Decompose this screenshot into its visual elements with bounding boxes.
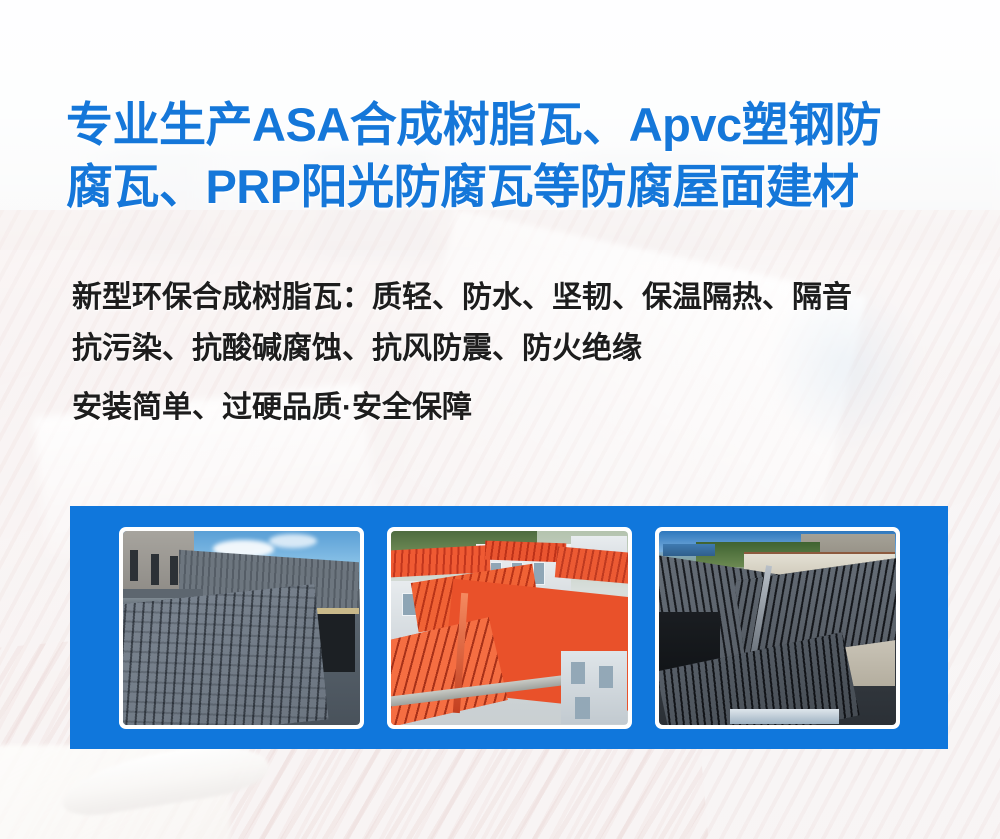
cloud-shape <box>269 534 316 548</box>
headline-line-2: 腐瓦、PRP阳光防腐瓦等防腐屋面建材 <box>66 156 946 218</box>
photo-frame-2[interactable] <box>387 527 632 729</box>
foreground-highlight <box>730 709 839 725</box>
grey-tile-surface <box>123 583 329 724</box>
headline: 专业生产ASA合成树脂瓦、Apvc塑钢防 腐瓦、PRP阳光防腐瓦等防腐屋面建材 <box>66 94 946 218</box>
photo-frame-3[interactable] <box>655 527 900 729</box>
photo-grey-resin-tile-roof[interactable] <box>123 531 360 725</box>
window <box>130 550 138 581</box>
window <box>599 666 613 687</box>
photo-frame-1[interactable] <box>119 527 364 729</box>
headline-line-1: 专业生产ASA合成树脂瓦、Apvc塑钢防 <box>66 94 946 156</box>
promo-banner: 专业生产ASA合成树脂瓦、Apvc塑钢防 腐瓦、PRP阳光防腐瓦等防腐屋面建材 … <box>0 0 1000 839</box>
photo-black-resin-tile-roof[interactable] <box>659 531 896 725</box>
photo-red-resin-tile-roof[interactable] <box>391 531 628 725</box>
window <box>571 662 585 683</box>
subtitle-block: 新型环保合成树脂瓦：质轻、防水、坚韧、保温隔热、隔音 抗污染、抗酸碱腐蚀、抗风防… <box>72 272 962 433</box>
subtitle-line-3: 安装简单、过硬品质·安全保障 <box>72 382 962 433</box>
window <box>151 554 159 585</box>
window <box>575 697 589 718</box>
red-roof-far-b <box>485 541 566 563</box>
subtitle-line-1: 新型环保合成树脂瓦：质轻、防水、坚韧、保温隔热、隔音 <box>72 272 962 323</box>
subtitle-line-2: 抗污染、抗酸碱腐蚀、抗风防震、防火绝缘 <box>72 323 962 374</box>
blue-shed <box>663 544 715 556</box>
window <box>170 556 178 585</box>
photo-gallery-panel <box>70 506 948 749</box>
